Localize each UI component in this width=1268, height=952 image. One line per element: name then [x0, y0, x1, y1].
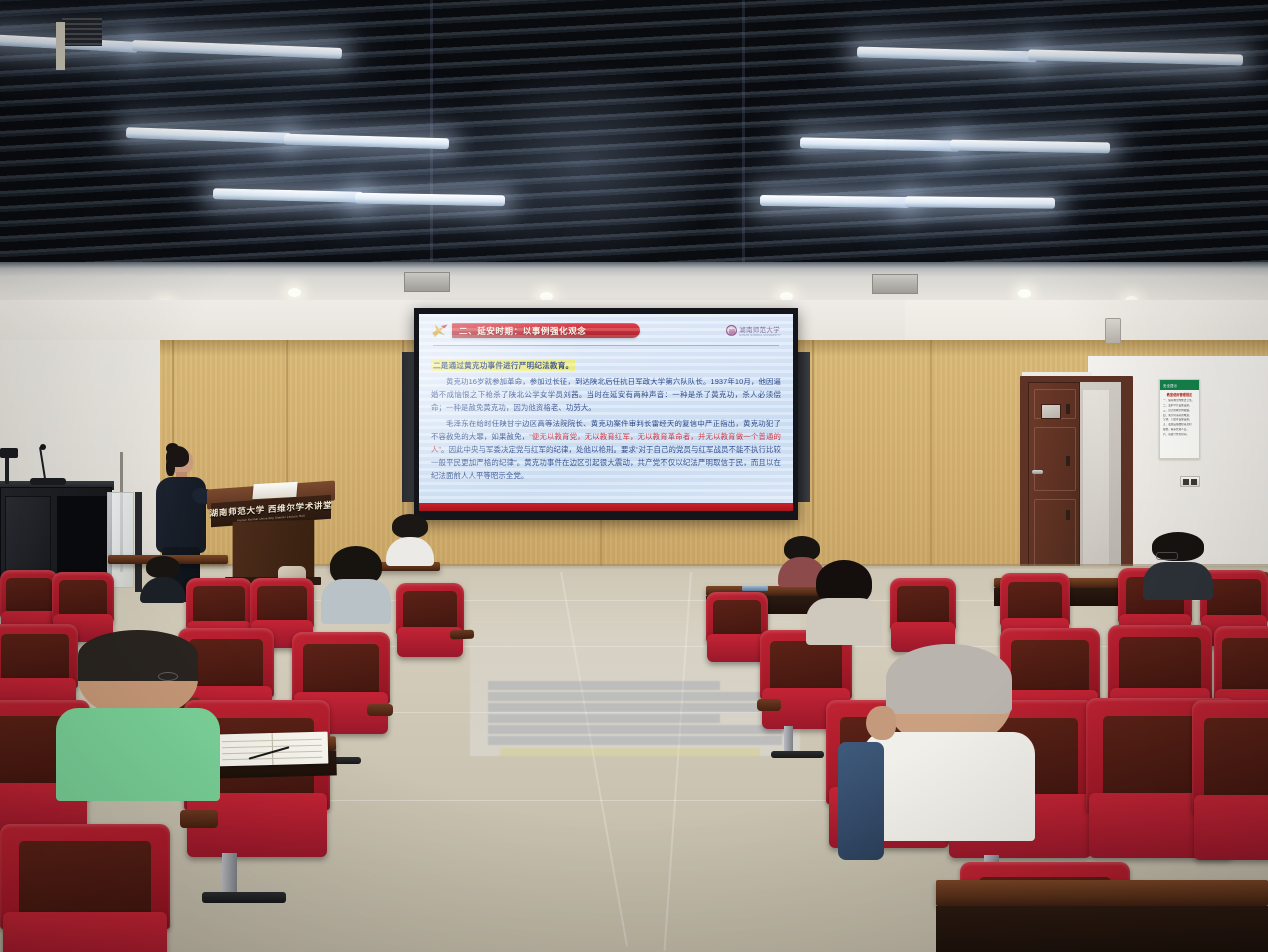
seat-cushion — [707, 634, 767, 663]
ceiling-light-fixture — [760, 195, 910, 208]
door-window — [1041, 404, 1061, 419]
reflection-line — [488, 681, 720, 690]
camera-icon — [0, 448, 18, 458]
seat-tablet-desk — [450, 630, 475, 640]
screen-side-panel — [402, 352, 414, 502]
poster-line: 一、保持教室内整洁卫生。 — [1163, 399, 1196, 404]
seat-cushion — [1194, 795, 1268, 861]
slide-title: 二、延安时期：以事例强化观念 — [459, 325, 586, 337]
av-rack-equipment — [62, 18, 102, 46]
seat-armrest — [180, 810, 218, 828]
ceiling-sheen — [430, 60, 730, 270]
slide-header: 二、延安时期：以事例强化观念 湖南师范大学 HUNAN NORMAL UNIVE… — [431, 323, 781, 338]
person-hair — [392, 514, 428, 538]
audience-person — [1152, 532, 1204, 594]
presentation-screen[interactable]: 二、延安时期：以事例强化观念 湖南师范大学 HUNAN NORMAL UNIVE… — [419, 314, 793, 511]
poster-body: 一、保持教室内整洁卫生。 二、爱护公共设施设备。 三、禁止在教室内吸烟。 四、离… — [1163, 399, 1196, 438]
reflection-line — [488, 714, 720, 723]
slide-highlight-line: 二是通过黄克功事件进行严明纪法教育。 — [431, 355, 781, 373]
slide-paragraph-2: 毛泽东在给时任陕甘宁边区高等法院院长、黄克功案件审判长雷经天的复信中严正指出，黄… — [431, 418, 781, 482]
ceiling-seam — [430, 0, 433, 272]
person-torso — [863, 732, 1034, 841]
microphone-icon — [40, 444, 46, 450]
door-hinge — [1066, 404, 1070, 414]
person-hair — [78, 630, 198, 681]
audience-person — [816, 560, 872, 636]
downlight — [288, 288, 301, 297]
auditorium-seat[interactable] — [396, 583, 464, 667]
switch-rocker[interactable] — [1191, 479, 1197, 485]
slide: 二、延安时期：以事例强化观念 湖南师范大学 HUNAN NORMAL UNIVE… — [419, 314, 793, 511]
reflection-line — [488, 692, 782, 701]
auditorium-seat[interactable] — [0, 824, 170, 952]
auditorium-seat[interactable] — [706, 592, 768, 672]
light-switch[interactable] — [1180, 476, 1200, 487]
seat-foot — [202, 892, 287, 903]
slide-title-bar: 二、延安时期：以事例强化观念 — [452, 323, 640, 338]
reflection-line — [488, 736, 782, 745]
ceiling-light-fixture — [905, 196, 1055, 209]
seat-armrest — [367, 704, 392, 716]
audience-person — [330, 546, 382, 618]
reflection-line — [488, 703, 782, 712]
person-torso — [321, 579, 392, 624]
slide-divider — [433, 345, 779, 346]
seat-armrest — [757, 699, 781, 710]
audience-person — [886, 644, 1012, 820]
projection-screen-bezel: 二、延安时期：以事例强化观念 湖南师范大学 HUNAN NORMAL UNIVE… — [414, 308, 798, 520]
slide-paragraph-1: 黄克功16岁就参加革命，参加过长征，到达陕北后任抗日军政大学第六队队长。1937… — [431, 376, 781, 415]
person-hand — [866, 706, 896, 740]
audience-person — [78, 630, 198, 780]
dark-post — [135, 492, 142, 592]
downlight — [1018, 289, 1031, 298]
row-desk-front — [936, 906, 1268, 952]
audience-person — [784, 536, 820, 584]
slide-highlight-text: 二是通过黄克功事件进行严明纪法教育。 — [431, 360, 575, 371]
air-vent — [872, 274, 918, 294]
poster-line: 六、请遵守作息时间。 — [1163, 433, 1196, 438]
party-emblem-icon — [431, 323, 448, 338]
university-logo-text: 湖南师范大学 HUNAN NORMAL UNIVERSITY — [739, 324, 781, 337]
av-rack-open-bay — [57, 496, 109, 584]
person-torso — [1143, 562, 1214, 600]
ceiling — [0, 0, 1268, 272]
slide-body: 二是通过黄克功事件进行严明纪法教育。 黄克功16岁就参加革命，参加过长征，到达陕… — [431, 355, 781, 482]
person-torso — [806, 598, 882, 645]
wall-notice-poster: 安全提示 教室使用管理规定 一、保持教室内整洁卫生。 二、爱护公共设施设备。 三… — [1159, 379, 1200, 459]
seat-foot — [771, 751, 824, 758]
reflection-line — [500, 748, 760, 756]
air-vent — [404, 272, 450, 292]
reflection-line — [488, 725, 782, 734]
auditorium-seat[interactable] — [1192, 700, 1268, 882]
notebook-spine — [272, 733, 274, 765]
door-hinge — [1066, 456, 1070, 466]
lectern-notes-paper — [252, 482, 297, 499]
university-name-cn: 湖南师范大学 — [739, 324, 781, 334]
university-name-en: HUNAN NORMAL UNIVERSITY — [739, 334, 781, 337]
eyeglasses-icon — [1156, 552, 1178, 560]
university-seal-icon — [726, 325, 737, 336]
screen-side-panel — [798, 352, 810, 502]
university-logo: 湖南师范大学 HUNAN NORMAL UNIVERSITY — [726, 324, 781, 337]
seat-cushion — [3, 912, 166, 952]
eyeglasses-icon — [158, 672, 178, 681]
switch-rocker[interactable] — [1183, 479, 1189, 485]
poster-line: 三、禁止在教室内吸烟。 — [1163, 409, 1196, 414]
audience-person — [146, 556, 180, 598]
slide-para2-post: 。因此中央与军委决定党与红军的纪律，处他以枪刑。要求“对于自己的党员与红军战员不… — [431, 445, 781, 480]
wall-speaker-icon — [1105, 318, 1121, 344]
audience-person — [392, 514, 428, 560]
person-torso — [140, 577, 186, 603]
person-jeans — [838, 742, 884, 860]
screen-footer-bar — [419, 503, 793, 511]
microphone-base — [30, 478, 66, 485]
poster-line: 二、爱护公共设施设备。 — [1163, 404, 1196, 409]
poster-header: 安全提示 — [1160, 380, 1199, 390]
door-opening-inner — [1083, 390, 1109, 576]
open-notebook — [216, 732, 329, 767]
door-handle[interactable] — [1032, 470, 1043, 474]
presenter-hair-side — [166, 457, 175, 476]
person-torso — [56, 708, 219, 801]
row-desk — [936, 880, 1268, 906]
av-rack-paper — [56, 22, 65, 70]
poster-title: 教室使用管理规定 — [1162, 393, 1197, 398]
person-hair — [146, 556, 180, 578]
person-torso — [386, 537, 435, 566]
ceiling-seam — [742, 0, 745, 272]
poster-header-text: 安全提示 — [1163, 383, 1177, 388]
door-hinge — [1066, 510, 1070, 520]
lecture-hall-photo: 安全提示 教室使用管理规定 一、保持教室内整洁卫生。 二、爱护公共设施设备。 三… — [0, 0, 1268, 952]
soffit-edge — [0, 262, 1268, 268]
person-hair — [886, 644, 1012, 714]
laptop-screen — [742, 586, 768, 591]
lectern: 湖南师范大学 西维尔学术讲堂 Hunan Normal University X… — [207, 485, 335, 587]
